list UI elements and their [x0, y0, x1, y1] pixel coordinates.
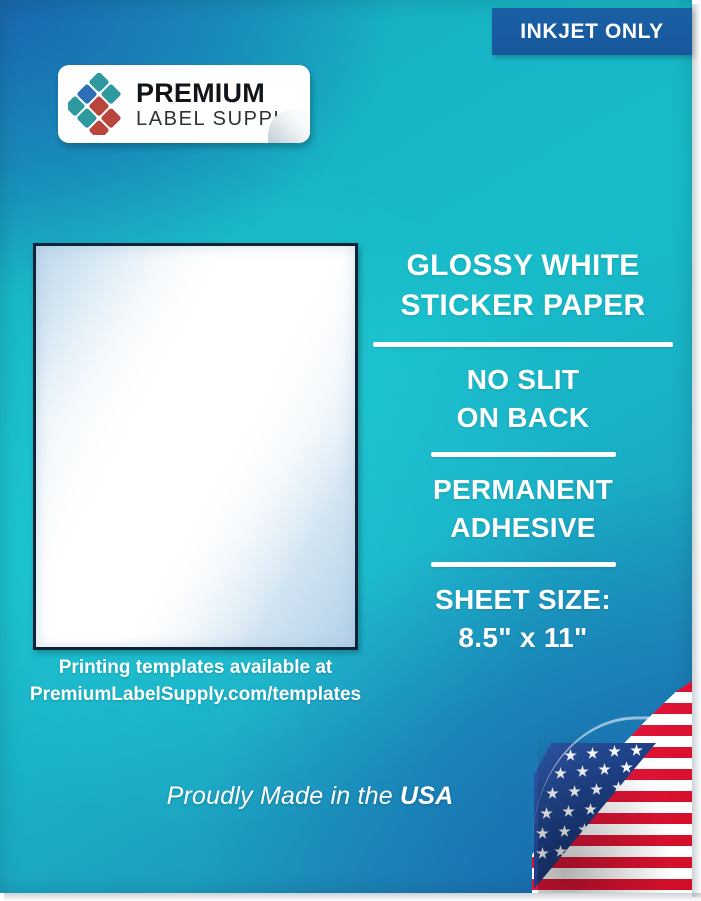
feature-adhesive-line-1: PERMANENT — [372, 471, 674, 509]
templates-note-line-1: Printing templates available at — [8, 655, 383, 682]
usa-flag-peel-corner — [532, 681, 692, 893]
inkjet-only-badge: INKJET ONLY — [492, 8, 692, 55]
sheet-size-label: SHEET SIZE: — [372, 581, 674, 619]
glossy-white-sheet-preview — [33, 243, 358, 650]
sheet-size-value: 8.5" x 11" — [372, 619, 674, 657]
inkjet-only-label: INKJET ONLY — [520, 20, 664, 44]
feature-adhesive-line-2: ADHESIVE — [372, 509, 674, 547]
made-in-usa-country: USA — [400, 782, 453, 810]
product-package-image: INKJET ONLY PREMIUM LABEL SUPPLY — [0, 0, 701, 901]
product-name-line-1: GLOSSY WHITE — [372, 246, 674, 286]
sheet-surface — [36, 246, 355, 647]
diamond-tiles-mark-icon — [68, 73, 130, 135]
made-in-usa-prefix: Proudly Made in the — [167, 782, 400, 810]
brand-logo-card: PREMIUM LABEL SUPPLY — [58, 65, 310, 143]
product-info-column: GLOSSY WHITE STICKER PAPER NO SLIT ON BA… — [372, 246, 674, 656]
product-name: GLOSSY WHITE STICKER PAPER — [372, 246, 674, 326]
feature-no-slit-line-1: NO SLIT — [372, 361, 674, 399]
feature-no-slit: NO SLIT ON BACK — [372, 361, 674, 436]
divider-1 — [373, 342, 673, 347]
product-name-line-2: STICKER PAPER — [372, 286, 674, 326]
feature-no-slit-line-2: ON BACK — [372, 399, 674, 437]
sheet-size-block: SHEET SIZE: 8.5" x 11" — [372, 581, 674, 656]
divider-3 — [431, 562, 616, 567]
templates-note: Printing templates available at PremiumL… — [8, 655, 383, 708]
brand-name-primary: PREMIUM — [136, 80, 300, 107]
made-in-usa-text: Proudly Made in the USA — [100, 782, 520, 811]
divider-2 — [431, 452, 616, 457]
sheet-inner-shading — [36, 246, 355, 647]
page-shadow-bottom — [4, 893, 701, 901]
templates-note-url: PremiumLabelSupply.com/templates — [8, 682, 383, 709]
page-shadow-right — [692, 4, 701, 897]
feature-permanent-adhesive: PERMANENT ADHESIVE — [372, 471, 674, 546]
